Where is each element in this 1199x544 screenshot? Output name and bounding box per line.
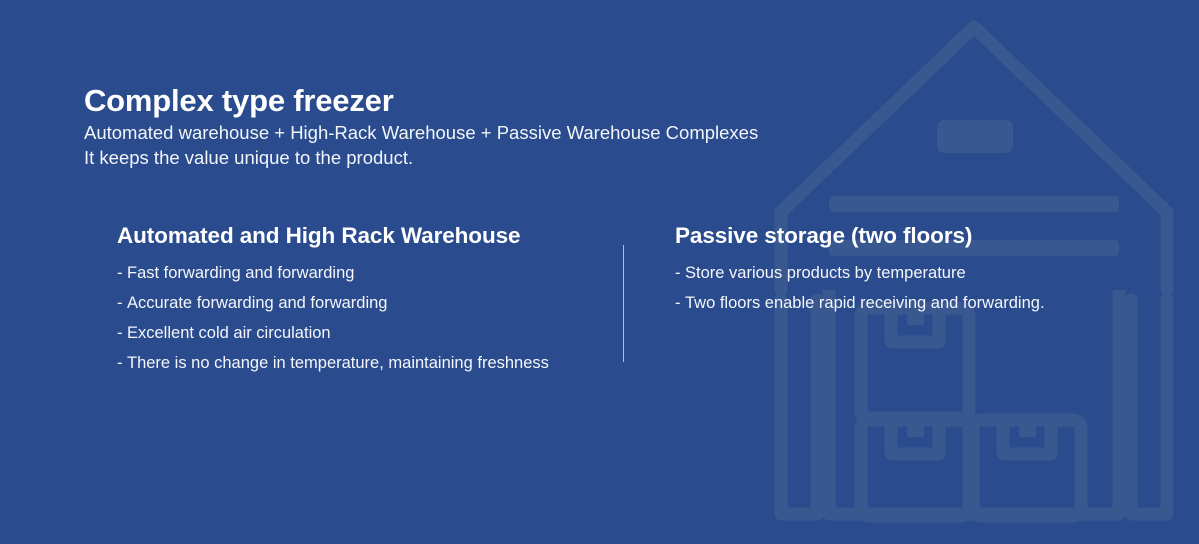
bullet-marker: - [117,288,127,318]
column-heading: Automated and High Rack Warehouse [117,222,617,249]
list-item: -Two floors enable rapid receiving and f… [675,288,1135,318]
list-item-label: There is no change in temperature, maint… [127,354,549,372]
list-item-label: Two floors enable rapid receiving and fo… [685,294,1045,312]
list-item: -Accurate forwarding and forwarding [117,288,617,318]
list-item-label: Excellent cold air circulation [127,324,331,342]
bullet-list: -Fast forwarding and forwarding -Accurat… [117,258,617,378]
page-title: Complex type freezer [84,83,394,119]
bullet-marker: - [675,288,685,318]
list-item: -Store various products by temperature [675,258,1135,288]
subtitle: Automated warehouse + High-Rack Warehous… [84,120,758,170]
column-automated-high-rack: Automated and High Rack Warehouse -Fast … [117,222,617,378]
subtitle-line-2: It keeps the value unique to the product… [84,145,758,170]
list-item-label: Accurate forwarding and forwarding [127,294,387,312]
slide-root: Complex type freezer Automated warehouse… [0,0,1199,544]
list-item: -Excellent cold air circulation [117,318,617,348]
list-item: -Fast forwarding and forwarding [117,258,617,288]
list-item-label: Fast forwarding and forwarding [127,264,354,282]
columns-container: Automated and High Rack Warehouse -Fast … [0,222,1199,422]
list-item-label: Store various products by temperature [685,264,966,282]
column-heading: Passive storage (two floors) [675,222,1135,249]
content-layer: Complex type freezer Automated warehouse… [0,0,1199,544]
subtitle-line-1: Automated warehouse + High-Rack Warehous… [84,120,758,145]
bullet-list: -Store various products by temperature -… [675,258,1135,318]
column-passive-storage: Passive storage (two floors) -Store vari… [675,222,1135,318]
bullet-marker: - [117,258,127,288]
column-divider [623,245,624,362]
list-item: -There is no change in temperature, main… [117,348,617,378]
bullet-marker: - [675,258,685,288]
bullet-marker: - [117,318,127,348]
bullet-marker: - [117,348,127,378]
